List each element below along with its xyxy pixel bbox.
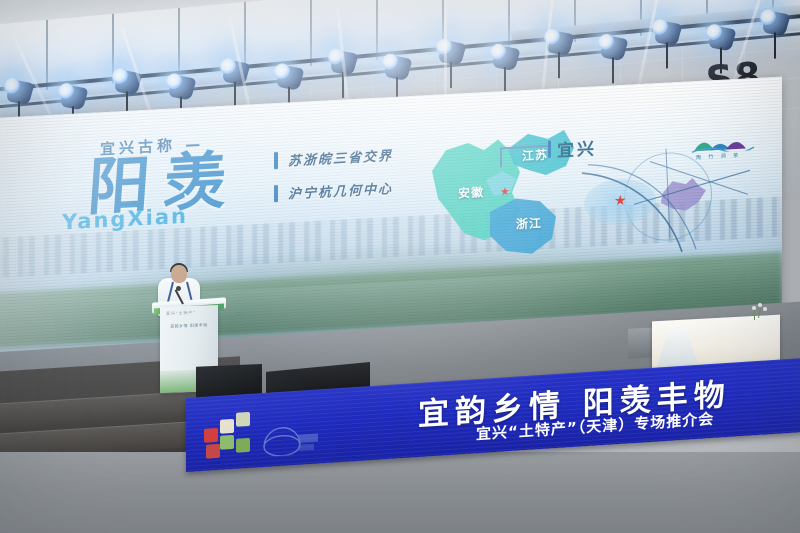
stage-light-fixture (278, 59, 304, 91)
speaker-head (171, 265, 187, 283)
stage-light-fixture (656, 15, 682, 47)
transit-star-marker: ★ (614, 193, 627, 208)
stage-light-fixture (8, 74, 34, 106)
light-yoke-stand (612, 57, 614, 83)
deco-square (220, 419, 234, 434)
light-yoke-stand (720, 47, 722, 73)
province-label-jiangsu: 江苏 (522, 149, 548, 163)
stage-light-fixture (170, 69, 196, 101)
conference-stage-photo: S8 宜兴古称 — 阳羡 YangXian 苏浙皖三省交界 沪宁杭几何中心 (0, 0, 800, 533)
stage-light-fixture (548, 25, 574, 57)
light-yoke-stand (558, 52, 560, 78)
deco-square (204, 428, 218, 443)
screen-bullet-item: 沪宁杭几何中心 (274, 178, 393, 203)
flower-arrangement (744, 300, 770, 324)
stage-light-fixture (386, 50, 412, 82)
light-yoke-stand (450, 62, 452, 88)
province-label-anhui: 安徽 (458, 186, 484, 200)
deco-square (206, 444, 220, 459)
screen-bullet-text: 苏浙皖三省交界 (288, 145, 393, 170)
callout-bar-icon (548, 141, 551, 158)
bullet-marker-icon (274, 152, 278, 169)
screen-bullet-list: 苏浙皖三省交界 沪宁杭几何中心 (274, 145, 393, 217)
callout-leader-elbow (500, 147, 502, 167)
bullet-marker-icon (274, 185, 278, 202)
logo-hills-icon (692, 130, 754, 153)
stage-light-fixture (764, 5, 790, 37)
banner-decoration (204, 402, 334, 462)
light-yoke-stand (504, 67, 506, 93)
stage-light-fixture (602, 30, 628, 62)
deco-square (236, 438, 250, 453)
venue-floor (0, 452, 800, 533)
deco-teapot-illustration (250, 413, 320, 458)
screen-bullet-text: 沪宁杭几何中心 (288, 178, 393, 203)
mountain-wave-logo: 陶 竹 洞 茶 (692, 130, 754, 159)
stage-light-fixture (710, 20, 736, 52)
microphone-head-icon (176, 286, 181, 291)
podium-body-text: 宜韵乡情 阳羡丰物 (168, 321, 210, 330)
map-star-marker: ★ (500, 185, 510, 199)
stage-light-fixture (494, 40, 520, 72)
province-label-zhejiang: 浙江 (516, 217, 542, 231)
deco-square (236, 412, 250, 427)
deco-square (220, 435, 234, 450)
light-yoke-stand (234, 82, 236, 108)
light-yoke-stand (774, 32, 776, 58)
podium-brand-text: 宜兴“土特产” (166, 310, 196, 317)
stage-light-fixture (62, 79, 88, 111)
light-yoke-stand (666, 42, 668, 68)
